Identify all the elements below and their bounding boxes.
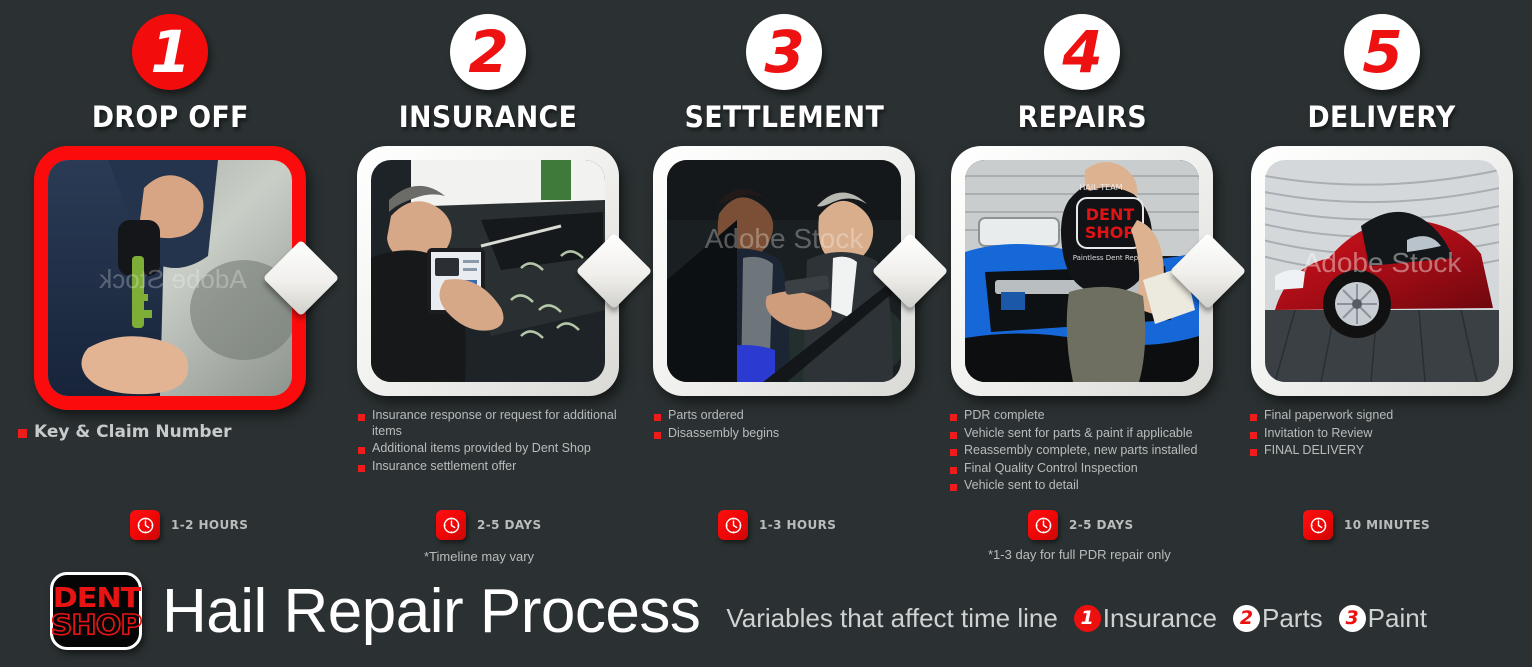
time-label-5: 10 MINUTES (1344, 518, 1430, 532)
photo-5: Adobe Stock (1265, 160, 1499, 382)
step-card-wrap-3: Adobe Stock (653, 146, 915, 396)
photo-3: Adobe Stock (667, 160, 901, 382)
page-title: Hail Repair Process (162, 576, 700, 647)
step-bullets-2: Insurance response or request for additi… (340, 408, 636, 476)
step-card-wrap-5: Adobe Stock (1251, 146, 1513, 396)
step-number-badge-5: 5 (1344, 14, 1420, 90)
step-title-4: REPAIRS (1017, 100, 1146, 134)
dent-shop-logo: DENT SHOP (50, 572, 142, 650)
time-label-2: 2-5 DAYS (477, 518, 542, 532)
bullet-text: FINAL DELIVERY (1264, 443, 1364, 459)
variable-item-insurance: 1 Insurance (1074, 603, 1217, 634)
step-1-drop-off: 1 DROP OFF (0, 0, 340, 575)
bullet-item: Key & Claim Number (18, 422, 322, 443)
bullet-dot-icon (358, 465, 365, 472)
bullet-item: FINAL DELIVERY (1250, 443, 1514, 459)
photo-watermark-1: Adobe Stock (98, 264, 246, 294)
bullet-dot-icon (950, 449, 957, 456)
bullet-item: Additional items provided by Dent Shop (358, 441, 618, 457)
bullet-text: Additional items provided by Dent Shop (372, 441, 591, 457)
step-number-badge-2: 2 (450, 14, 526, 90)
bullet-text: Vehicle sent for parts & paint if applic… (964, 426, 1193, 442)
photo-2 (371, 160, 605, 382)
step-3-settlement: 3 SETTLEMENT (636, 0, 932, 575)
step-bullets-1: Key & Claim Number (0, 422, 340, 445)
photo-image-3: Adobe Stock (667, 160, 901, 382)
variable-badge-2: 2 (1233, 605, 1260, 632)
step-title-2: INSURANCE (399, 100, 578, 134)
photo-watermark-3: Adobe Stock (705, 223, 865, 254)
step-card-wrap-4: DENT SHOP Paintless Dent Repair HAIL TEA… (951, 146, 1213, 396)
timing-5: 10 MINUTES (1303, 510, 1430, 540)
logo-text-dent: DENT (52, 584, 139, 611)
bullet-item: Vehicle sent for parts & paint if applic… (950, 426, 1214, 442)
variables-group: Variables that affect time line 1 Insura… (726, 603, 1427, 634)
clock-icon (718, 510, 748, 540)
bullet-dot-icon (654, 432, 661, 439)
bullet-dot-icon (18, 429, 27, 438)
bullet-item: Invitation to Review (1250, 426, 1514, 442)
bullet-item: Disassembly begins (654, 426, 914, 442)
bullet-item: Insurance settlement offer (358, 459, 618, 475)
clock-icon (1028, 510, 1058, 540)
time-label-3: 1-3 HOURS (759, 518, 836, 532)
bullet-dot-icon (950, 432, 957, 439)
photo-image-5: Adobe Stock (1265, 160, 1499, 382)
photo-image-4: DENT SHOP Paintless Dent Repair HAIL TEA… (965, 160, 1199, 382)
timing-2: 2-5 DAYS (436, 510, 542, 540)
bullet-dot-icon (1250, 449, 1257, 456)
step-card-wrap-2 (357, 146, 619, 396)
step-number-badge-4: 4 (1044, 14, 1120, 90)
variable-badge-3: 3 (1339, 605, 1366, 632)
svg-text:DENT: DENT (1086, 205, 1135, 224)
timing-3: 1-3 HOURS (718, 510, 836, 540)
clock-icon (436, 510, 466, 540)
bullet-item: PDR complete (950, 408, 1214, 424)
bullet-item: Final paperwork signed (1250, 408, 1514, 424)
photo-frame-5: Adobe Stock (1251, 146, 1513, 396)
bullet-text: Key & Claim Number (34, 422, 232, 443)
clock-icon (1303, 510, 1333, 540)
step-title-1: DROP OFF (91, 100, 248, 134)
logo-text-shop: SHOP (51, 611, 142, 638)
bullet-dot-icon (950, 467, 957, 474)
bullet-text: Parts ordered (668, 408, 744, 424)
steps-row: 1 DROP OFF (0, 0, 1532, 575)
timing-1: 1-2 HOURS (130, 510, 248, 540)
variable-item-parts: 2 Parts (1233, 603, 1323, 634)
step-bullets-4: PDR complete Vehicle sent for parts & pa… (932, 408, 1232, 496)
time-label-4: 2-5 DAYS (1069, 518, 1134, 532)
step-2-insurance: 2 INSURANCE (340, 0, 636, 575)
infographic-root: 1 DROP OFF (0, 0, 1532, 667)
photo-1: Adobe Stock (48, 160, 292, 396)
svg-text:HAIL TEAM: HAIL TEAM (1079, 183, 1122, 192)
photo-image-2 (371, 160, 605, 382)
photo-4: DENT SHOP Paintless Dent Repair HAIL TEA… (965, 160, 1199, 382)
step-number-badge-3: 3 (746, 14, 822, 90)
step-title-5: DELIVERY (1308, 100, 1456, 134)
time-label-1: 1-2 HOURS (171, 518, 248, 532)
photo-watermark-5: Adobe Stock (1303, 247, 1463, 278)
bullet-text: Reassembly complete, new parts installed (964, 443, 1197, 459)
timing-4: 2-5 DAYS (1028, 510, 1134, 540)
step-number-badge-1: 1 (132, 14, 208, 90)
svg-text:Paintless Dent Repair: Paintless Dent Repair (1073, 254, 1148, 262)
variable-badge-1: 1 (1074, 605, 1101, 632)
step-bullets-5: Final paperwork signed Invitation to Rev… (1232, 408, 1532, 461)
bullet-text: Insurance settlement offer (372, 459, 516, 475)
variable-label-2: Parts (1262, 603, 1323, 634)
variable-label-1: Insurance (1103, 603, 1217, 634)
bullet-text: Final paperwork signed (1264, 408, 1393, 424)
bullet-dot-icon (1250, 414, 1257, 421)
bullet-dot-icon (950, 414, 957, 421)
variable-label-3: Paint (1368, 603, 1427, 634)
bullet-item: Parts ordered (654, 408, 914, 424)
footer-bar: DENT SHOP Hail Repair Process Variables … (0, 555, 1532, 667)
bullet-text: Vehicle sent to detail (964, 478, 1079, 494)
bullet-text: Final Quality Control Inspection (964, 461, 1138, 477)
step-5-delivery: 5 DELIVERY (1232, 0, 1532, 575)
bullet-dot-icon (1250, 432, 1257, 439)
variable-item-paint: 3 Paint (1339, 603, 1427, 634)
step-title-3: SETTLEMENT (684, 100, 884, 134)
variables-label: Variables that affect time line (726, 603, 1057, 634)
bullet-dot-icon (654, 414, 661, 421)
bullet-item: Reassembly complete, new parts installed (950, 443, 1214, 459)
clock-icon (130, 510, 160, 540)
step-card-wrap-1: Adobe Stock (34, 146, 306, 410)
bullet-text: Invitation to Review (1264, 426, 1372, 442)
bullet-text: PDR complete (964, 408, 1045, 424)
svg-text:SHOP: SHOP (1085, 223, 1136, 242)
bullet-text: Disassembly begins (668, 426, 779, 442)
step-4-repairs: 4 REPAIRS (932, 0, 1232, 575)
step-bullets-3: Parts ordered Disassembly begins (636, 408, 932, 443)
bullet-text: Insurance response or request for additi… (372, 408, 618, 439)
bullet-item: Insurance response or request for additi… (358, 408, 618, 439)
bullet-dot-icon (950, 484, 957, 491)
bullet-dot-icon (358, 414, 365, 421)
bullet-item: Vehicle sent to detail (950, 478, 1214, 494)
photo-image-1: Adobe Stock (48, 160, 292, 396)
bullet-item: Final Quality Control Inspection (950, 461, 1214, 477)
bullet-dot-icon (358, 447, 365, 454)
